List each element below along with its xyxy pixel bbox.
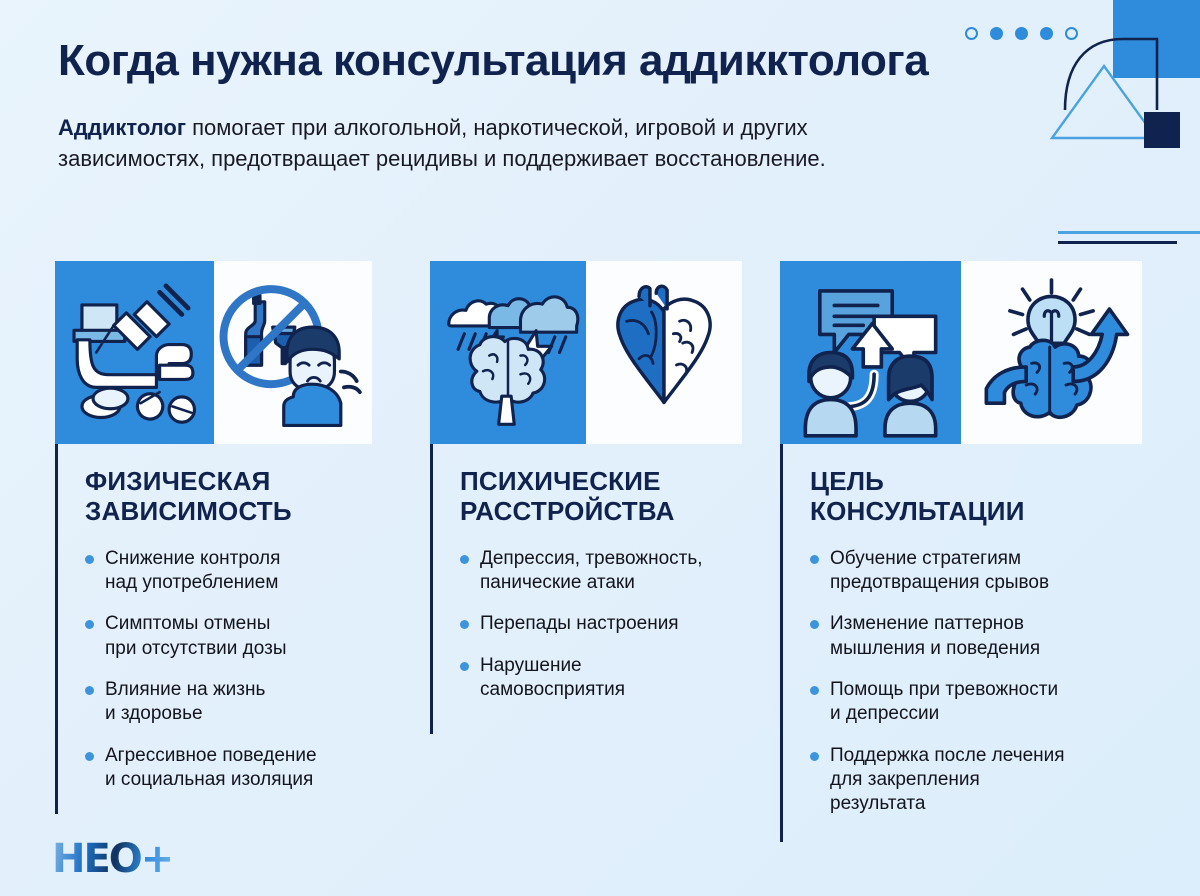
decor-light-line bbox=[1058, 231, 1200, 234]
list-item: Снижение контроля над употреблением bbox=[85, 547, 372, 596]
no-alcohol-sad-person-icon bbox=[214, 261, 373, 444]
column-3-image-row bbox=[780, 261, 1142, 444]
column-3-divider bbox=[780, 444, 783, 842]
column-1-heading: ФИЗИЧЕСКАЯ ЗАВИСИМОСТЬ bbox=[85, 466, 372, 527]
list-item: Обучение стратегиям предотвращения срыво… bbox=[810, 547, 1142, 596]
column-1-body: ФИЗИЧЕСКАЯ ЗАВИСИМОСТЬ Снижение контроля… bbox=[55, 444, 372, 792]
list-item: Симптомы отмены при отсутствии дозы bbox=[85, 612, 372, 661]
column-3-body: ЦЕЛЬ КОНСУЛЬТАЦИИ Обучение стратегиям пр… bbox=[780, 444, 1142, 817]
column-mental-disorders: ПСИХИЧЕСКИЕ РАССТРОЙСТВА Депрессия, трев… bbox=[372, 261, 742, 834]
column-2-divider bbox=[430, 444, 433, 734]
column-3-bullet-list: Обучение стратегиям предотвращения срыво… bbox=[810, 547, 1142, 817]
decor-dark-line bbox=[1058, 241, 1177, 244]
column-2-image-row bbox=[430, 261, 742, 444]
list-item: Поддержка после лечения для закрепления … bbox=[810, 744, 1142, 817]
page-title: Когда нужна консультация аддикктолога bbox=[58, 36, 958, 86]
decor-dot-3 bbox=[1015, 27, 1028, 40]
two-people-speech-bubbles-arrow-icon bbox=[780, 261, 961, 444]
column-2-heading: ПСИХИЧЕСКИЕ РАССТРОЙСТВА bbox=[460, 466, 742, 527]
infographic-page: Когда нужна консультация аддикктолога Ад… bbox=[0, 0, 1200, 896]
column-1-image-row bbox=[55, 261, 372, 444]
brand-logo: НЕО+ bbox=[52, 836, 172, 882]
list-item: Влияние на жизнь и здоровье bbox=[85, 678, 372, 727]
list-item: Депрессия, тревожность, панические атаки bbox=[460, 547, 742, 596]
list-item: Нарушение самовосприятия bbox=[460, 654, 742, 703]
subtitle-bold-term: Аддиктолог bbox=[58, 115, 186, 140]
heart-brain-icon bbox=[586, 261, 742, 444]
lightbulb-brain-arrows-icon bbox=[961, 261, 1142, 444]
list-item: Изменение паттернов мышления и поведения bbox=[810, 612, 1142, 661]
column-2-body: ПСИХИЧЕСКИЕ РАССТРОЙСТВА Депрессия, трев… bbox=[430, 444, 742, 702]
column-3-heading: ЦЕЛЬ КОНСУЛЬТАЦИИ bbox=[810, 466, 1142, 527]
decor-dot-2 bbox=[990, 27, 1003, 40]
arm-syringe-pills-icon bbox=[55, 261, 214, 444]
list-item: Перепады настроения bbox=[460, 612, 742, 636]
decor-dot-1 bbox=[965, 27, 978, 40]
header: Когда нужна консультация аддикктолога Ад… bbox=[58, 36, 958, 175]
decor-dot-row bbox=[965, 27, 1078, 40]
columns-container: ФИЗИЧЕСКАЯ ЗАВИСИМОСТЬ Снижение контроля… bbox=[0, 261, 1200, 834]
column-consultation-goal: ЦЕЛЬ КОНСУЛЬТАЦИИ Обучение стратегиям пр… bbox=[742, 261, 1142, 834]
decor-dot-4 bbox=[1040, 27, 1053, 40]
column-2-bullet-list: Депрессия, тревожность, панические атаки… bbox=[460, 547, 742, 703]
column-1-bullet-list: Снижение контроля над употреблением Симп… bbox=[85, 547, 372, 793]
list-item: Помощь при тревожности и депрессии bbox=[810, 678, 1142, 727]
decor-half-disc-icon bbox=[1144, 112, 1180, 148]
page-subtitle: Аддиктолог помогает при алкогольной, нар… bbox=[58, 112, 958, 174]
storm-cloud-brain-icon bbox=[430, 261, 586, 444]
column-physical-dependence: ФИЗИЧЕСКАЯ ЗАВИСИМОСТЬ Снижение контроля… bbox=[0, 261, 372, 834]
column-1-divider bbox=[55, 444, 58, 814]
list-item: Агрессивное поведение и социальная изоля… bbox=[85, 744, 372, 793]
